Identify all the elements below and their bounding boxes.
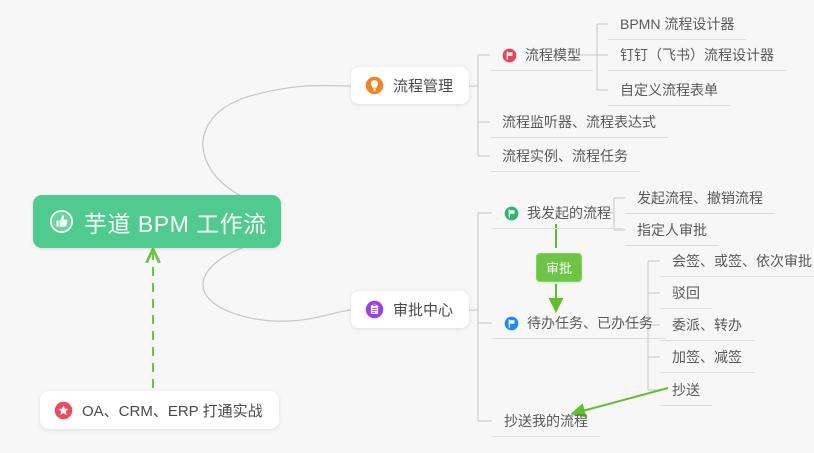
leaf-node-assignee-approval[interactable]: 指定人审批 [625, 219, 719, 246]
flag-icon [504, 316, 519, 331]
leaf-node-reject[interactable]: 驳回 [660, 282, 712, 309]
leaf-node-todo-done-tasks[interactable]: 待办任务、已办任务 [492, 312, 665, 339]
thumbs-up-icon [49, 209, 74, 234]
leaf-node-start-cancel-process[interactable]: 发起流程、撤销流程 [625, 187, 775, 214]
leaf-node-carbon-copy[interactable]: 抄送 [660, 379, 712, 406]
leaf-label: 流程监听器、流程表达式 [502, 114, 656, 130]
leaf-label: 自定义流程表单 [620, 82, 718, 98]
card-label: OA、CRM、ERP 打通实战 [82, 400, 263, 421]
leaf-node-cc-to-me-process[interactable]: 抄送我的流程 [492, 410, 600, 437]
root-label: 芋道 BPM 工作流 [84, 205, 267, 239]
leaf-node-dingtalk-designer[interactable]: 钉钉（飞书）流程设计器 [608, 44, 786, 71]
approval-badge: 审批 [536, 253, 582, 282]
lightbulb-icon [365, 76, 384, 95]
leaf-label: BPMN 流程设计器 [620, 16, 734, 32]
leaf-node-process-listener[interactable]: 流程监听器、流程表达式 [490, 111, 668, 138]
leaf-label: 抄送我的流程 [504, 413, 588, 429]
leaf-node-add-remove-sign[interactable]: 加签、减签 [660, 346, 754, 373]
root-node[interactable]: 芋道 BPM 工作流 [33, 195, 281, 248]
leaf-node-my-initiated-process[interactable]: 我发起的流程 [492, 202, 623, 229]
leaf-label: 流程模型 [525, 46, 581, 65]
star-icon [54, 401, 73, 420]
flag-icon [502, 48, 517, 63]
clipboard-icon [365, 300, 384, 319]
leaf-node-bpmn-designer[interactable]: BPMN 流程设计器 [608, 13, 746, 40]
branch-label: 流程管理 [393, 75, 453, 96]
leaf-label: 流程实例、流程任务 [502, 148, 628, 164]
leaf-label: 委派、转办 [672, 317, 742, 333]
leaf-label: 指定人审批 [637, 222, 707, 238]
leaf-label: 钉钉（飞书）流程设计器 [620, 47, 774, 63]
leaf-label: 我发起的流程 [527, 204, 611, 223]
flag-icon [504, 206, 519, 221]
leaf-label: 会签、或签、依次审批 [672, 253, 812, 269]
mindmap-canvas: 芋道 BPM 工作流 流程管理 审批中心 [0, 0, 814, 453]
leaf-node-custom-form[interactable]: 自定义流程表单 [608, 79, 730, 106]
leaf-label: 发起流程、撤销流程 [637, 190, 763, 206]
card-oa-crm-erp[interactable]: OA、CRM、ERP 打通实战 [40, 391, 279, 429]
leaf-node-countersign[interactable]: 会签、或签、依次审批 [660, 250, 814, 277]
branch-node-process-management[interactable]: 流程管理 [351, 67, 469, 104]
leaf-label: 待办任务、已办任务 [527, 314, 653, 333]
leaf-node-delegate-transfer[interactable]: 委派、转办 [660, 314, 754, 341]
leaf-node-process-model[interactable]: 流程模型 [490, 44, 593, 71]
leaf-node-process-instance[interactable]: 流程实例、流程任务 [490, 145, 640, 172]
leaf-label: 抄送 [672, 382, 700, 398]
leaf-label: 驳回 [672, 285, 700, 301]
branch-node-approval-center[interactable]: 审批中心 [351, 291, 469, 328]
leaf-label: 加签、减签 [672, 349, 742, 365]
branch-label: 审批中心 [393, 299, 453, 320]
